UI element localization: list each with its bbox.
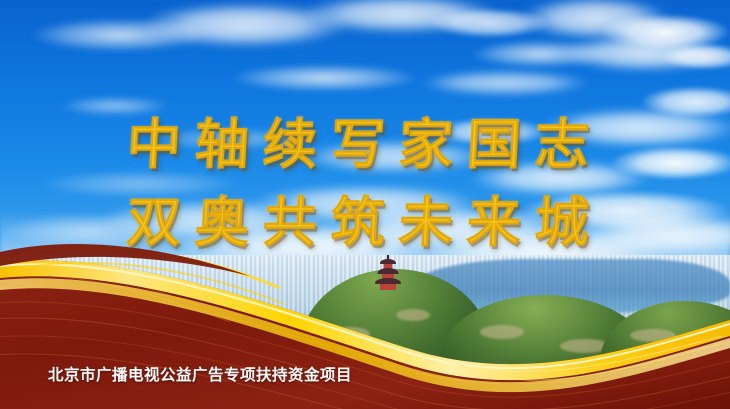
red-gold-ribbon <box>0 0 730 409</box>
public-service-ad-poster: 中轴续写家国志 双奥共筑未来城 北京市广播电视公益广告专项扶持资金项目 <box>0 0 730 409</box>
footer-caption: 北京市广播电视公益广告专项扶持资金项目 <box>48 363 352 385</box>
